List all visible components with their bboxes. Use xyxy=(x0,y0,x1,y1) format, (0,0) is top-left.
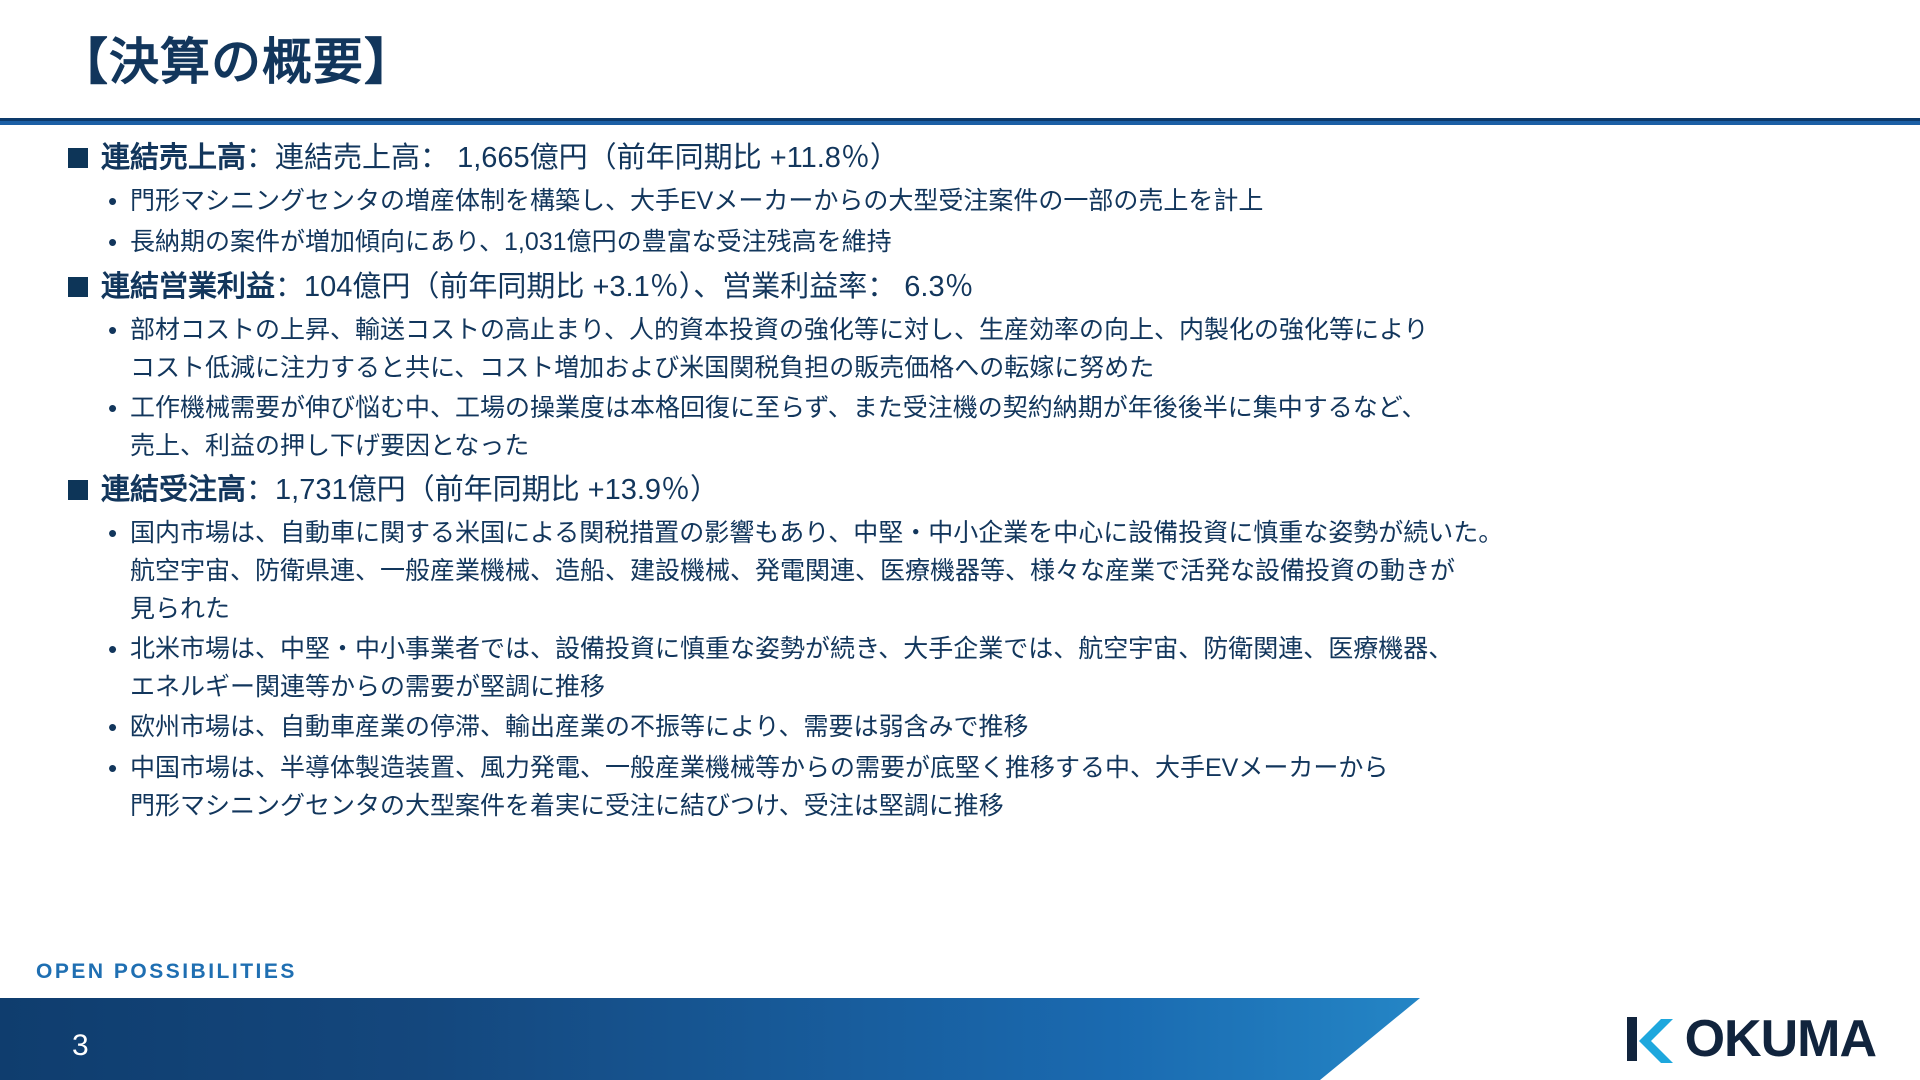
list-item-line: 欧州市場は、自動車産業の停滞、輸出産業の不振等により、需要は弱含みで推移 xyxy=(130,708,1029,746)
dot-bullet-icon: • xyxy=(108,630,122,669)
section-heading-value: ：1,731億円（前年同期比 +13.9％） xyxy=(246,474,719,506)
list-item-text: 部材コストの上昇、輸送コストの高止まり、人的資本投資の強化等に対し、生産効率の向… xyxy=(130,311,1429,387)
list-item-line: 工作機械需要が伸び悩む中、工場の操業度は本格回復に至らず、また受注機の契約納期が… xyxy=(130,389,1427,427)
section: 連結営業利益：104億円（前年同期比 +3.1％）、営業利益率： 6.3％•部材… xyxy=(0,267,1920,465)
section-heading: 連結売上高：連結売上高： 1,665億円（前年同期比 +11.8％） xyxy=(0,138,1920,179)
slide: 【決算の概要】 連結売上高：連結売上高： 1,665億円（前年同期比 +11.8… xyxy=(0,0,1920,1080)
section-heading-label: 連結受注高 xyxy=(101,474,246,506)
list-item-text: 北米市場は、中堅・中小事業者では、設備投資に慎重な姿勢が続き、大手企業では、航空… xyxy=(130,630,1453,706)
dot-bullet-icon: • xyxy=(108,749,122,788)
list-item-text: 欧州市場は、自動車産業の停滞、輸出産業の不振等により、需要は弱含みで推移 xyxy=(130,708,1029,746)
section-heading-value: ：連結売上高： 1,665億円（前年同期比 +11.8％） xyxy=(246,142,899,174)
list-item-text: 中国市場は、半導体製造装置、風力発電、一般産業機械等からの需要が底堅く推移する中… xyxy=(130,749,1388,825)
list-item-line: エネルギー関連等からの需要が堅調に推移 xyxy=(130,668,1453,706)
dot-bullet-icon: • xyxy=(108,708,122,747)
okuma-logo: OKUMA xyxy=(1621,1006,1876,1072)
section-heading-text: 連結営業利益：104億円（前年同期比 +3.1％）、営業利益率： 6.3％ xyxy=(101,267,974,308)
section-heading-label: 連結売上高 xyxy=(101,142,246,174)
dot-bullet-icon: • xyxy=(108,311,122,350)
dot-bullet-icon: • xyxy=(108,223,122,262)
section-heading-value: ：104億円（前年同期比 +3.1％）、営業利益率： 6.3％ xyxy=(275,271,974,303)
list-item-text: 工作機械需要が伸び悩む中、工場の操業度は本格回復に至らず、また受注機の契約納期が… xyxy=(130,389,1427,465)
section-heading-text: 連結売上高：連結売上高： 1,665億円（前年同期比 +11.8％） xyxy=(101,138,899,179)
slide-body: 連結売上高：連結売上高： 1,665億円（前年同期比 +11.8％）•門形マシニ… xyxy=(0,133,1920,827)
list-item: •北米市場は、中堅・中小事業者では、設備投資に慎重な姿勢が続き、大手企業では、航… xyxy=(108,630,1920,706)
bullet-list: •国内市場は、自動車に関する米国による関税措置の影響もあり、中堅・中小企業を中心… xyxy=(0,514,1920,825)
list-item: •中国市場は、半導体製造装置、風力発電、一般産業機械等からの需要が底堅く推移する… xyxy=(108,749,1920,825)
square-bullet-icon xyxy=(68,277,88,297)
section: 連結売上高：連結売上高： 1,665億円（前年同期比 +11.8％）•門形マシニ… xyxy=(0,138,1920,262)
list-item: •門形マシニングセンタの増産体制を構築し、大手EVメーカーからの大型受注案件の一… xyxy=(108,182,1920,221)
dot-bullet-icon: • xyxy=(108,389,122,428)
list-item: •部材コストの上昇、輸送コストの高止まり、人的資本投資の強化等に対し、生産効率の… xyxy=(108,311,1920,387)
list-item: •欧州市場は、自動車産業の停滞、輸出産業の不振等により、需要は弱含みで推移 xyxy=(108,708,1920,747)
section-heading: 連結受注高：1,731億円（前年同期比 +13.9％） xyxy=(0,470,1920,511)
tagline: OPEN POSSIBILITIES xyxy=(36,960,297,984)
list-item: •国内市場は、自動車に関する米国による関税措置の影響もあり、中堅・中小企業を中心… xyxy=(108,514,1920,628)
list-item-text: 門形マシニングセンタの増産体制を構築し、大手EVメーカーからの大型受注案件の一部… xyxy=(130,182,1263,220)
okuma-wordmark: OKUMA xyxy=(1685,1011,1876,1067)
bullet-list: •門形マシニングセンタの増産体制を構築し、大手EVメーカーからの大型受注案件の一… xyxy=(0,182,1920,262)
section-heading: 連結営業利益：104億円（前年同期比 +3.1％）、営業利益率： 6.3％ xyxy=(0,267,1920,308)
list-item-line: 部材コストの上昇、輸送コストの高止まり、人的資本投資の強化等に対し、生産効率の向… xyxy=(130,311,1429,349)
dot-bullet-icon: • xyxy=(108,514,122,553)
page-number: 3 xyxy=(72,1029,89,1063)
square-bullet-icon xyxy=(68,148,88,168)
list-item-line: 中国市場は、半導体製造装置、風力発電、一般産業機械等からの需要が底堅く推移する中… xyxy=(130,749,1388,787)
dot-bullet-icon: • xyxy=(108,182,122,221)
list-item-line: 見られた xyxy=(130,590,1503,628)
section: 連結受注高：1,731億円（前年同期比 +13.9％）•国内市場は、自動車に関す… xyxy=(0,470,1920,825)
title-divider-inner xyxy=(0,118,1920,121)
list-item-line: 門形マシニングセンタの増産体制を構築し、大手EVメーカーからの大型受注案件の一部… xyxy=(130,182,1263,220)
list-item-line: 航空宇宙、防衛県連、一般産業機械、造船、建設機械、発電関連、医療機器等、様々な産… xyxy=(130,552,1503,590)
section-heading-text: 連結受注高：1,731億円（前年同期比 +13.9％） xyxy=(101,470,719,511)
list-item-text: 国内市場は、自動車に関する米国による関税措置の影響もあり、中堅・中小企業を中心に… xyxy=(130,514,1503,628)
bullet-list: •部材コストの上昇、輸送コストの高止まり、人的資本投資の強化等に対し、生産効率の… xyxy=(0,311,1920,465)
okuma-logo-mark-icon xyxy=(1621,1011,1677,1067)
list-item: •工作機械需要が伸び悩む中、工場の操業度は本格回復に至らず、また受注機の契約納期… xyxy=(108,389,1920,465)
list-item-line: 売上、利益の押し下げ要因となった xyxy=(130,427,1427,465)
title-divider xyxy=(0,118,1920,125)
list-item-line: 北米市場は、中堅・中小事業者では、設備投資に慎重な姿勢が続き、大手企業では、航空… xyxy=(130,630,1453,668)
list-item-text: 長納期の案件が増加傾向にあり、1,031億円の豊富な受注残高を維持 xyxy=(130,223,892,261)
list-item-line: コスト低減に注力すると共に、コスト増加および米国関税負担の販売価格への転嫁に努め… xyxy=(130,349,1429,387)
square-bullet-icon xyxy=(68,480,88,500)
slide-header: 【決算の概要】 xyxy=(0,0,1920,122)
page-title: 【決算の概要】 xyxy=(58,22,415,94)
list-item-line: 長納期の案件が増加傾向にあり、1,031億円の豊富な受注残高を維持 xyxy=(130,223,892,261)
list-item: •長納期の案件が増加傾向にあり、1,031億円の豊富な受注残高を維持 xyxy=(108,223,1920,262)
list-item-line: 門形マシニングセンタの大型案件を着実に受注に結びつけ、受注は堅調に推移 xyxy=(130,787,1388,825)
list-item-line: 国内市場は、自動車に関する米国による関税措置の影響もあり、中堅・中小企業を中心に… xyxy=(130,514,1503,552)
section-heading-label: 連結営業利益 xyxy=(101,271,275,303)
